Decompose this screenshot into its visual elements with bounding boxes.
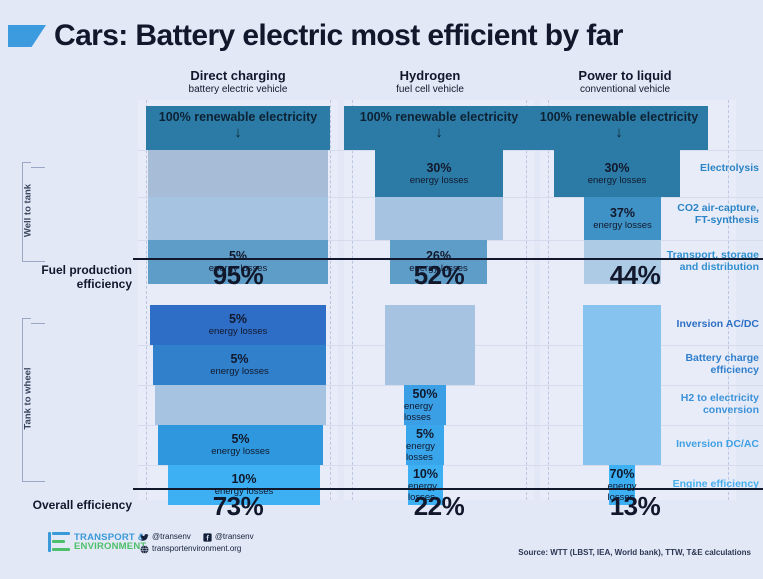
down-arrow-icon: ↓ xyxy=(435,126,443,140)
bar-pct: 5% xyxy=(230,353,248,366)
bar-c2-idle-upper xyxy=(385,305,475,385)
column-subtitle: battery electric vehicle xyxy=(148,83,328,96)
bar-c1-battery-charge: 5% energy losses xyxy=(153,345,326,385)
summary-value-c2-fuel-production: 52% xyxy=(344,260,534,291)
column-title: Hydrogen xyxy=(340,68,520,83)
title-accent-mark-icon xyxy=(8,25,46,47)
summary-value-c3-fuel-production: 44% xyxy=(540,260,730,291)
down-arrow-icon: ↓ xyxy=(234,126,242,140)
bracket-tick xyxy=(31,261,45,262)
summary-value-c2-overall: 22% xyxy=(344,491,534,522)
column-header-power-to-liquid: Power to liquid conventional vehicle xyxy=(530,68,720,96)
bar-pct: 10% xyxy=(413,468,438,481)
social-line-2: transportenvironment.org xyxy=(140,544,254,554)
bar-loss-label: energy losses xyxy=(593,220,652,231)
bar-pct: 5% xyxy=(231,433,249,446)
summary-rule-overall xyxy=(133,488,763,490)
bar-pct: 10% xyxy=(231,473,256,486)
renewable-electricity-label: 100% renewable electricity xyxy=(540,110,698,125)
source-note: Source: WTT (LBST, IEA, World bank), TTW… xyxy=(518,548,751,557)
column-title: Power to liquid xyxy=(530,68,720,83)
bar-loss-label: energy losses xyxy=(406,441,444,463)
bar-c1-h2-to-electricity xyxy=(155,385,326,425)
bar-c2-inversion-dcac: 5% energy losses xyxy=(406,425,444,465)
bar-c2-co2 xyxy=(375,197,503,240)
column-subtitle: conventional vehicle xyxy=(530,83,720,96)
bar-pct: 70% xyxy=(609,468,634,481)
bar-header-c1: 100% renewable electricity ↓ xyxy=(146,106,330,150)
facebook-icon xyxy=(203,533,212,542)
down-arrow-icon: ↓ xyxy=(615,126,623,140)
twitter-handle[interactable]: @transenv xyxy=(152,532,191,542)
group-label-tank-to-wheel: Tank to wheel xyxy=(23,359,34,439)
page-title: Cars: Battery electric most efficient by… xyxy=(54,19,623,53)
title-row: Cars: Battery electric most efficient by… xyxy=(0,14,763,58)
bar-loss-label: energy losses xyxy=(211,446,270,457)
row-label-electrolysis: Electrolysis xyxy=(645,162,763,174)
bar-loss-label: energy losses xyxy=(410,175,469,186)
bar-pct: 5% xyxy=(416,428,434,441)
column-subtitle: fuel cell vehicle xyxy=(340,83,520,96)
twitter-icon xyxy=(140,533,149,542)
chart-area: 100% renewable electricity ↓ 5% energy l… xyxy=(0,100,763,500)
bar-loss-label: energy losses xyxy=(210,366,269,377)
summary-value-c3-overall: 13% xyxy=(540,491,730,522)
facebook-handle[interactable]: @transenv xyxy=(215,532,254,542)
bar-loss-label: energy losses xyxy=(404,401,446,423)
summary-label-fuel-production: Fuel production efficiency xyxy=(14,263,132,291)
column-header-hydrogen: Hydrogen fuel cell vehicle xyxy=(340,68,520,96)
bar-pct: 5% xyxy=(229,313,247,326)
gridline-dashed-4 xyxy=(526,100,527,500)
bar-pct: 30% xyxy=(604,162,629,175)
group-label-well-to-tank: Well to tank xyxy=(23,171,34,251)
renewable-electricity-label: 100% renewable electricity xyxy=(360,110,518,125)
row-label-inversion-acdc: Inversion AC/DC xyxy=(645,318,763,330)
bar-c1-inversion-dcac: 5% energy losses xyxy=(158,425,323,465)
column-headers: Direct charging battery electric vehicle… xyxy=(0,68,763,98)
bracket-tick xyxy=(31,481,45,482)
logo-line-2: ENVIRONMENT xyxy=(74,542,146,552)
row-label-battery-charge: Battery charge efficiency xyxy=(645,352,763,376)
bar-pct: 50% xyxy=(412,388,437,401)
summary-label-overall: Overall efficiency xyxy=(14,498,132,512)
website-url[interactable]: transportenvironment.org xyxy=(152,544,241,554)
social-links: @transenv @transenv transportenvironment… xyxy=(140,532,254,554)
infographic-root: Cars: Battery electric most efficient by… xyxy=(0,0,763,579)
summary-value-c1-overall: 73% xyxy=(148,491,328,522)
bar-c1-co2 xyxy=(148,197,328,240)
renewable-electricity-label: 100% renewable electricity xyxy=(159,110,317,125)
gridline-dashed-3 xyxy=(352,100,353,500)
bracket-tick xyxy=(31,323,45,324)
row-label-inversion-dcac: Inversion DC/AC xyxy=(645,438,763,450)
gridline-dashed-5 xyxy=(548,100,549,500)
summary-value-c1-fuel-production: 95% xyxy=(148,260,328,291)
gridline-dashed-1 xyxy=(146,100,147,500)
logo-wordmark: TRANSPORT & ENVIRONMENT xyxy=(74,533,146,552)
bar-c1-electrolysis xyxy=(148,150,328,197)
bar-c2-h2-to-electricity: 50% energy losses xyxy=(404,385,446,425)
bar-c2-electrolysis: 30% energy losses xyxy=(375,150,503,197)
bar-loss-label: energy losses xyxy=(209,326,268,337)
bar-pct: 37% xyxy=(610,207,635,220)
bracket-tick xyxy=(31,167,45,168)
social-line-1: @transenv @transenv xyxy=(140,532,254,542)
bar-loss-label: energy losses xyxy=(588,175,647,186)
column-header-direct-charging: Direct charging battery electric vehicle xyxy=(148,68,328,96)
bar-header-c3: 100% renewable electricity ↓ xyxy=(530,106,708,150)
transport-environment-logo-icon xyxy=(48,532,70,552)
bar-c1-inversion-acdc: 5% energy losses xyxy=(150,305,326,345)
bar-pct: 30% xyxy=(426,162,451,175)
globe-icon xyxy=(140,545,149,554)
row-label-h2-to-electricity: H2 to electricity conversion xyxy=(645,392,763,416)
column-title: Direct charging xyxy=(148,68,328,83)
row-label-co2-air-capture: CO2 air-capture, FT-synthesis xyxy=(645,202,763,226)
gridline-dashed-2 xyxy=(330,100,331,500)
logo: TRANSPORT & ENVIRONMENT xyxy=(48,532,146,552)
bar-header-c2: 100% renewable electricity ↓ xyxy=(344,106,534,150)
